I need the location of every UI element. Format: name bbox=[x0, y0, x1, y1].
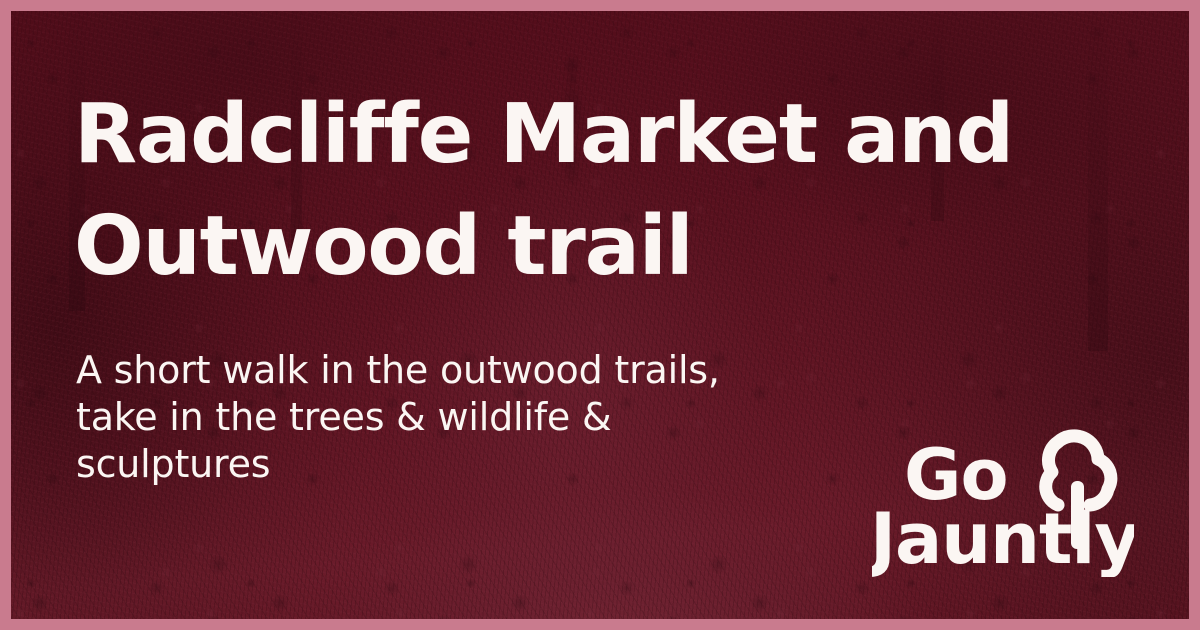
title-line-2: Outwood trail bbox=[74, 199, 693, 294]
description-line-2: take in the trees & wildlife & bbox=[76, 394, 876, 441]
page-title: Radcliffe Market and Outwood trail bbox=[74, 79, 1104, 303]
card-content: Radcliffe Market and Outwood trail A sho… bbox=[11, 11, 1189, 619]
description-line-1: A short walk in the outwood trails, bbox=[76, 347, 876, 394]
card-description: A short walk in the outwood trails, take… bbox=[76, 347, 876, 488]
description-line-3: sculptures bbox=[76, 441, 876, 488]
logo-word-jauntly: Jauntly bbox=[872, 498, 1134, 577]
title-line-1: Radcliffe Market and bbox=[74, 87, 1013, 182]
share-card: Radcliffe Market and Outwood trail A sho… bbox=[0, 0, 1200, 630]
photo-frame: Radcliffe Market and Outwood trail A sho… bbox=[11, 11, 1189, 619]
go-jauntly-logo: Go Jauntly bbox=[872, 427, 1134, 577]
